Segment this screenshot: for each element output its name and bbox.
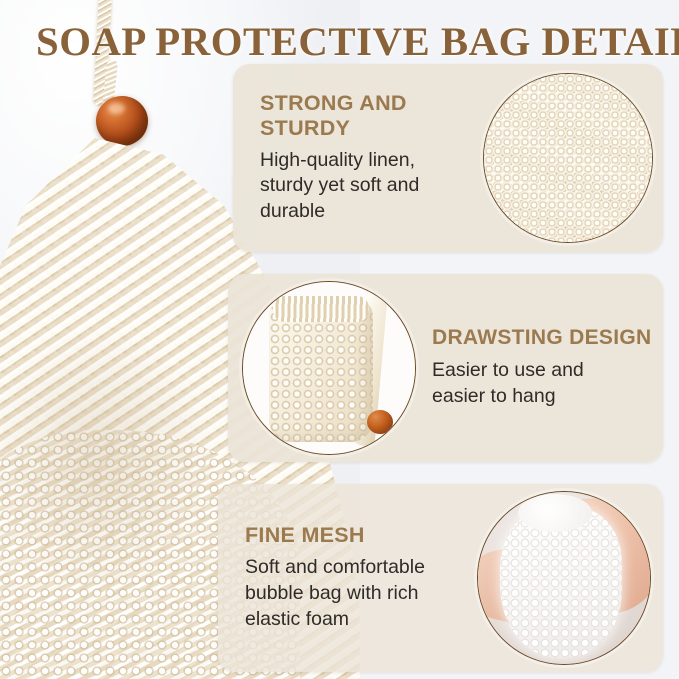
wooden-bead-small xyxy=(367,410,393,434)
wooden-bead xyxy=(96,96,148,146)
feature-card-drawsting-design: DRAWSTING DESIGN Easier to use and easie… xyxy=(228,274,663,462)
feature-card-strong-and-sturdy: STRONG AND STURDY High-quality linen, st… xyxy=(233,64,663,252)
feature-card-text: STRONG AND STURDY High-quality linen, st… xyxy=(233,91,483,226)
feature-body: Easier to use and easier to hang xyxy=(432,358,653,410)
feature-heading: STRONG AND STURDY xyxy=(260,91,469,141)
knit-texture-closeup-photo xyxy=(483,73,653,243)
drawstring-bag-scene xyxy=(243,282,415,454)
knit-texture-fill xyxy=(484,74,652,242)
foamy-bag-in-hands-photo xyxy=(477,491,651,665)
bag-drawstring-gather xyxy=(273,296,369,322)
feature-body: High-quality linen, sturdy yet soft and … xyxy=(260,148,469,226)
feature-card-fine-mesh: FINE MESH Soft and comfortable bubble ba… xyxy=(218,484,663,672)
feature-card-text: DRAWSTING DESIGN Easier to use and easie… xyxy=(420,326,663,409)
foam-scene xyxy=(478,492,650,664)
feature-heading: DRAWSTING DESIGN xyxy=(432,326,653,350)
feature-body: Soft and comfortable bubble bag with ric… xyxy=(245,555,463,633)
page-title: SOAP PROTECTIVE BAG DETAIL xyxy=(36,18,679,65)
infographic-canvas: SOAP PROTECTIVE BAG DETAIL STRONG AND ST… xyxy=(0,0,679,679)
feature-heading: FINE MESH xyxy=(245,523,463,548)
foam-top-bubbles xyxy=(518,494,592,532)
drawstring-mesh-bag-photo xyxy=(242,281,416,455)
feature-card-text: FINE MESH Soft and comfortable bubble ba… xyxy=(218,523,477,633)
